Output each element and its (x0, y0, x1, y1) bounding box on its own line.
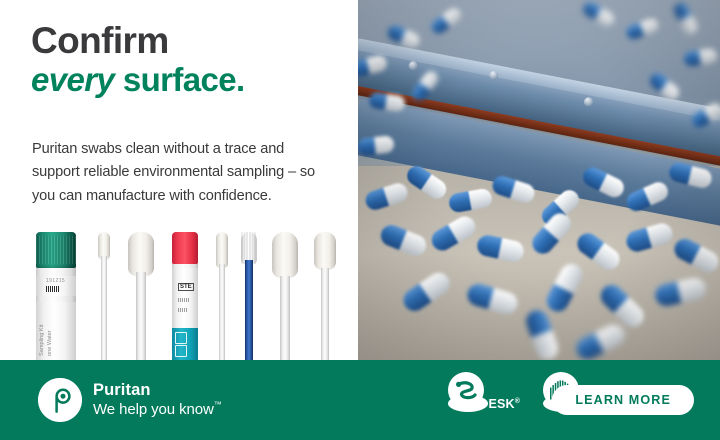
tube-label-line-1: Sampling Kit (39, 325, 45, 356)
sterile-code: STE (178, 283, 194, 291)
puritan-p-swab-icon (38, 378, 82, 422)
content-panel: Confirm every surface. Puritan swabs cle… (0, 0, 358, 360)
hero-photo (358, 0, 720, 360)
tube-label-line-2: one Water (47, 330, 53, 356)
sub-brand-esk[interactable]: ESK® (448, 372, 520, 413)
body-paragraph: Puritan swabs clean without a trace and … (32, 138, 332, 209)
tagline-text: We help you know (93, 401, 214, 418)
tube-label-lower: Sampling Kit one Water (36, 302, 76, 360)
advertisement-banner: Confirm every surface. Puritan swabs cle… (0, 0, 720, 440)
red-tube-label: STE (172, 268, 198, 332)
lot-code: 191215 (46, 278, 65, 284)
esk-name: ESK (488, 397, 514, 411)
tube-teal-band (172, 328, 198, 360)
product-red-cap-tube: STE (172, 232, 198, 360)
product-foam-swab-medium (272, 232, 298, 360)
headline: Confirm every surface. (31, 22, 341, 98)
product-lineup: 191215 Sampling Kit one Water (0, 230, 358, 360)
headline-roman: surface (114, 61, 236, 98)
product-foam-swab-small (314, 232, 336, 360)
headline-period: . (236, 61, 245, 98)
esk-label: ESK® (488, 397, 520, 411)
blue-shaft (245, 260, 253, 360)
headline-line-2: every surface. (31, 63, 341, 97)
brand-text-block: Puritan We help you know™ (93, 381, 222, 419)
photo-vignette (358, 0, 720, 360)
brand-name: Puritan (93, 381, 222, 400)
product-green-cap-tube: 191215 Sampling Kit one Water (36, 232, 76, 360)
esk-trademark: ® (515, 398, 520, 405)
brand-tagline: We help you know™ (93, 400, 222, 419)
brand-footer: Puritan We help you know™ ESK® (0, 360, 720, 440)
headline-line-1: Confirm (31, 22, 341, 60)
learn-more-button[interactable]: LEARN MORE (552, 385, 694, 415)
product-flocked-swab-blue-handle (240, 232, 258, 360)
puritan-logo-lockup[interactable]: Puritan We help you know™ (38, 378, 222, 422)
product-paddle-swab (215, 232, 229, 360)
product-large-foam-swab (128, 232, 154, 360)
tube-label-upper: 191215 (36, 276, 76, 296)
esk-swab-icon (448, 395, 488, 412)
headline-emphasis: every (31, 61, 114, 98)
product-slim-foam-swab (97, 232, 111, 360)
tagline-trademark: ™ (214, 400, 222, 409)
